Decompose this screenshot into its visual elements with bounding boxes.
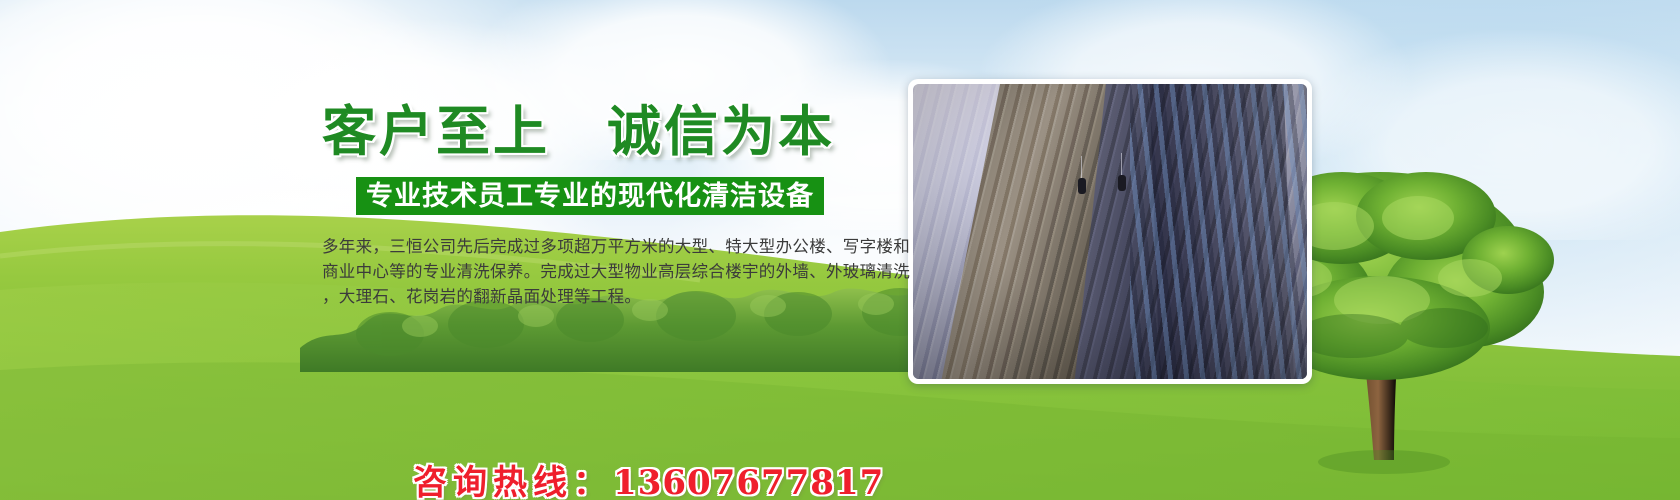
hotline-row-primary: 咨询热线：13607677817 (330, 414, 884, 500)
banner-headline: 客户至上 诚信为本 (322, 104, 835, 158)
hotline-number-primary[interactable]: 13607677817 (613, 463, 884, 500)
promo-banner: 客户至上 诚信为本 专业技术员工专业的现代化清洁设备 多年来，三恒公司先后完成过… (0, 0, 1680, 500)
description-line: ，大理石、花岗岩的翻新晶面处理等工程。 (322, 284, 900, 309)
building-photo-card[interactable] (908, 79, 1312, 384)
description-line: 商业中心等的专业清洗保养。完成过大型物业高层综合楼宇的外墙、外玻璃清洗 (322, 259, 900, 284)
subheadline-bar: 专业技术员工专业的现代化清洁设备 (356, 177, 824, 215)
building-photo (913, 84, 1307, 379)
description-paragraph: 多年来，三恒公司先后完成过多项超万平方米的大型、特大型办公楼、写字楼和 商业中心… (322, 234, 900, 309)
hotline-block: 咨询热线：13607677817 0371-60996760 (330, 322, 884, 500)
hotline-label: 咨询热线： (413, 463, 613, 500)
description-line: 多年来，三恒公司先后完成过多项超万平方米的大型、特大型办公楼、写字楼和 (322, 234, 900, 259)
subheadline-text: 专业技术员工专业的现代化清洁设备 (366, 183, 814, 210)
photo-vignette (913, 84, 1307, 379)
